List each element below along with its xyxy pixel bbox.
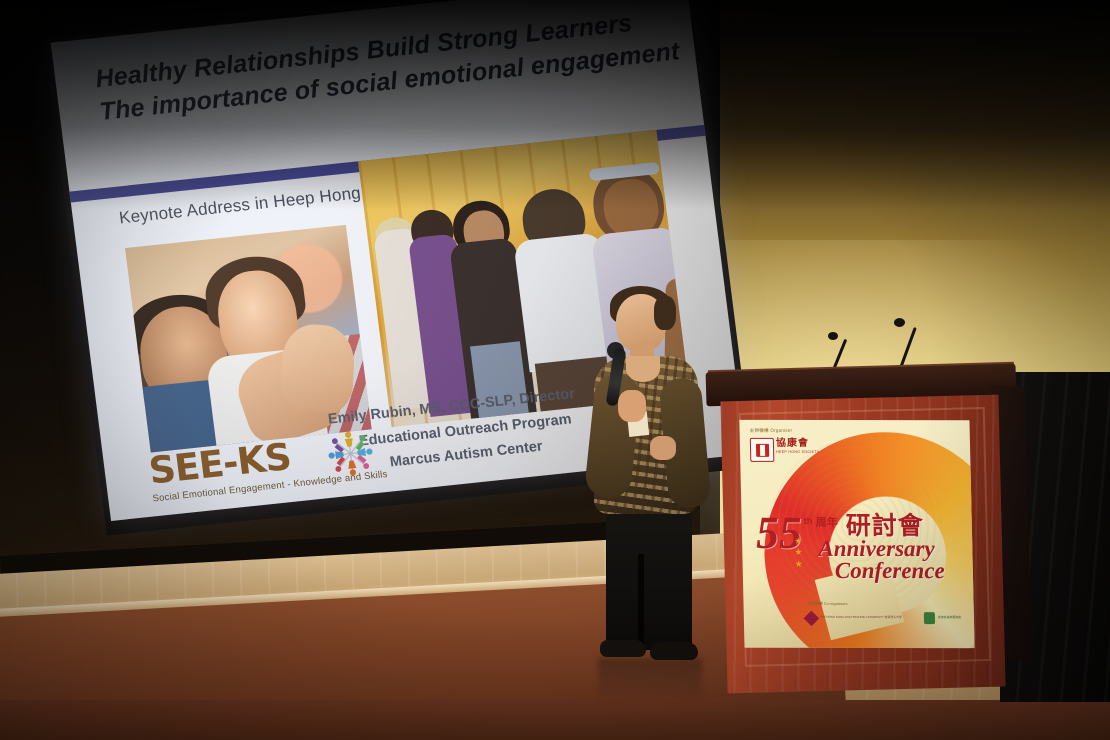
podium-banner: 主辦機構 Organiser 協康會 HEEP HONG SOCIETY 55 … [739, 420, 974, 648]
presenter-hand-right [650, 436, 676, 460]
podium: 主辦機構 Organiser 協康會 HEEP HONG SOCIETY 55 … [716, 360, 1016, 690]
presenter-trousers [606, 508, 692, 650]
see-ks-people-circle-icon [321, 425, 379, 482]
heep-hong-society-logo-icon [750, 438, 775, 462]
presenter-floor-reflection [598, 658, 702, 702]
banner-organiser-label: 主辦機構 Organiser [750, 428, 793, 434]
banner-coorganiser-logos: THE HONG KONG POLYTECHNIC UNIVERSITY 香港理… [806, 612, 961, 624]
coorganiser-2: 香港基督教服務處 [924, 612, 961, 624]
polyu-logo-icon [804, 610, 820, 626]
banner-coorganiser-label: 合辦機構 Co-organisers [808, 602, 848, 607]
photo-left-hands-2 [279, 322, 355, 415]
presenter-shoe-left [600, 640, 646, 657]
presenter-hand-left [618, 390, 646, 422]
conference-word: Conference [835, 558, 945, 584]
anniversary-stars-icon: ★★★ [794, 536, 803, 570]
heep-hong-name-en: HEEP HONG SOCIETY [776, 450, 819, 454]
heep-hong-name-zh: 協康會 [776, 439, 809, 450]
hkcs-logo-icon [924, 612, 935, 624]
gooseneck-microphone-left-head-icon [828, 332, 838, 340]
conference-photo-scene: Healthy Relationships Build Strong Learn… [0, 0, 1110, 740]
presenter-hair-side [654, 296, 676, 330]
anniversary-zhounian-zh: 周年 [816, 514, 838, 530]
anniversary-number-suffix: th [804, 516, 813, 526]
coorganiser-2-name: 香港基督教服務處 [938, 616, 961, 620]
heep-hong-mark [755, 443, 768, 456]
presenter-shoe-right [650, 642, 698, 660]
coorganiser-1: THE HONG KONG POLYTECHNIC UNIVERSITY 香港理… [806, 612, 902, 623]
stage-front-panel-lower [0, 700, 1110, 740]
ceiling-shadow [0, 0, 1110, 210]
gooseneck-microphone-right-head-icon [894, 318, 905, 327]
coorganiser-1-name: THE HONG KONG POLYTECHNIC UNIVERSITY 香港理… [820, 616, 902, 620]
presenter-trouser-seam [638, 554, 644, 646]
